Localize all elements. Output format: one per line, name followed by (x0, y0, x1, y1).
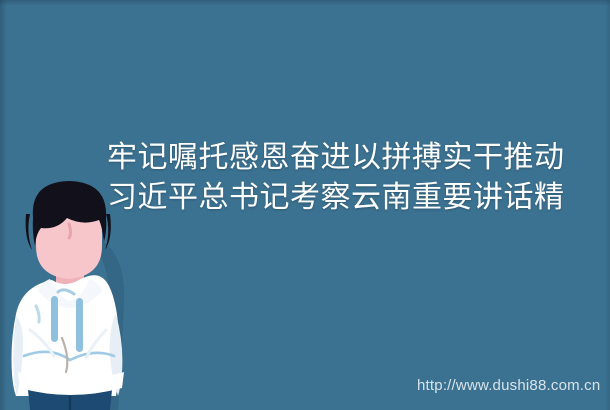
drawstring-left (51, 296, 58, 342)
headline-line-2: 习近平总书记考察云南重要讲话精 (107, 178, 610, 218)
poster-canvas: 牢记嘱托感恩奋进以拼搏实干推动 习近平总书记考察云南重要讲话精 http://w… (0, 0, 610, 410)
headline-line-1: 牢记嘱托感恩奋进以拼搏实干推动 (107, 138, 610, 178)
nose-line (69, 224, 71, 238)
headline-text: 牢记嘱托感恩奋进以拼搏实干推动 习近平总书记考察云南重要讲话精 (107, 138, 610, 218)
site-watermark: http://www.dushi88.com.cn (417, 377, 600, 395)
hair-side-left (26, 214, 32, 250)
drawstring-right (76, 298, 83, 352)
